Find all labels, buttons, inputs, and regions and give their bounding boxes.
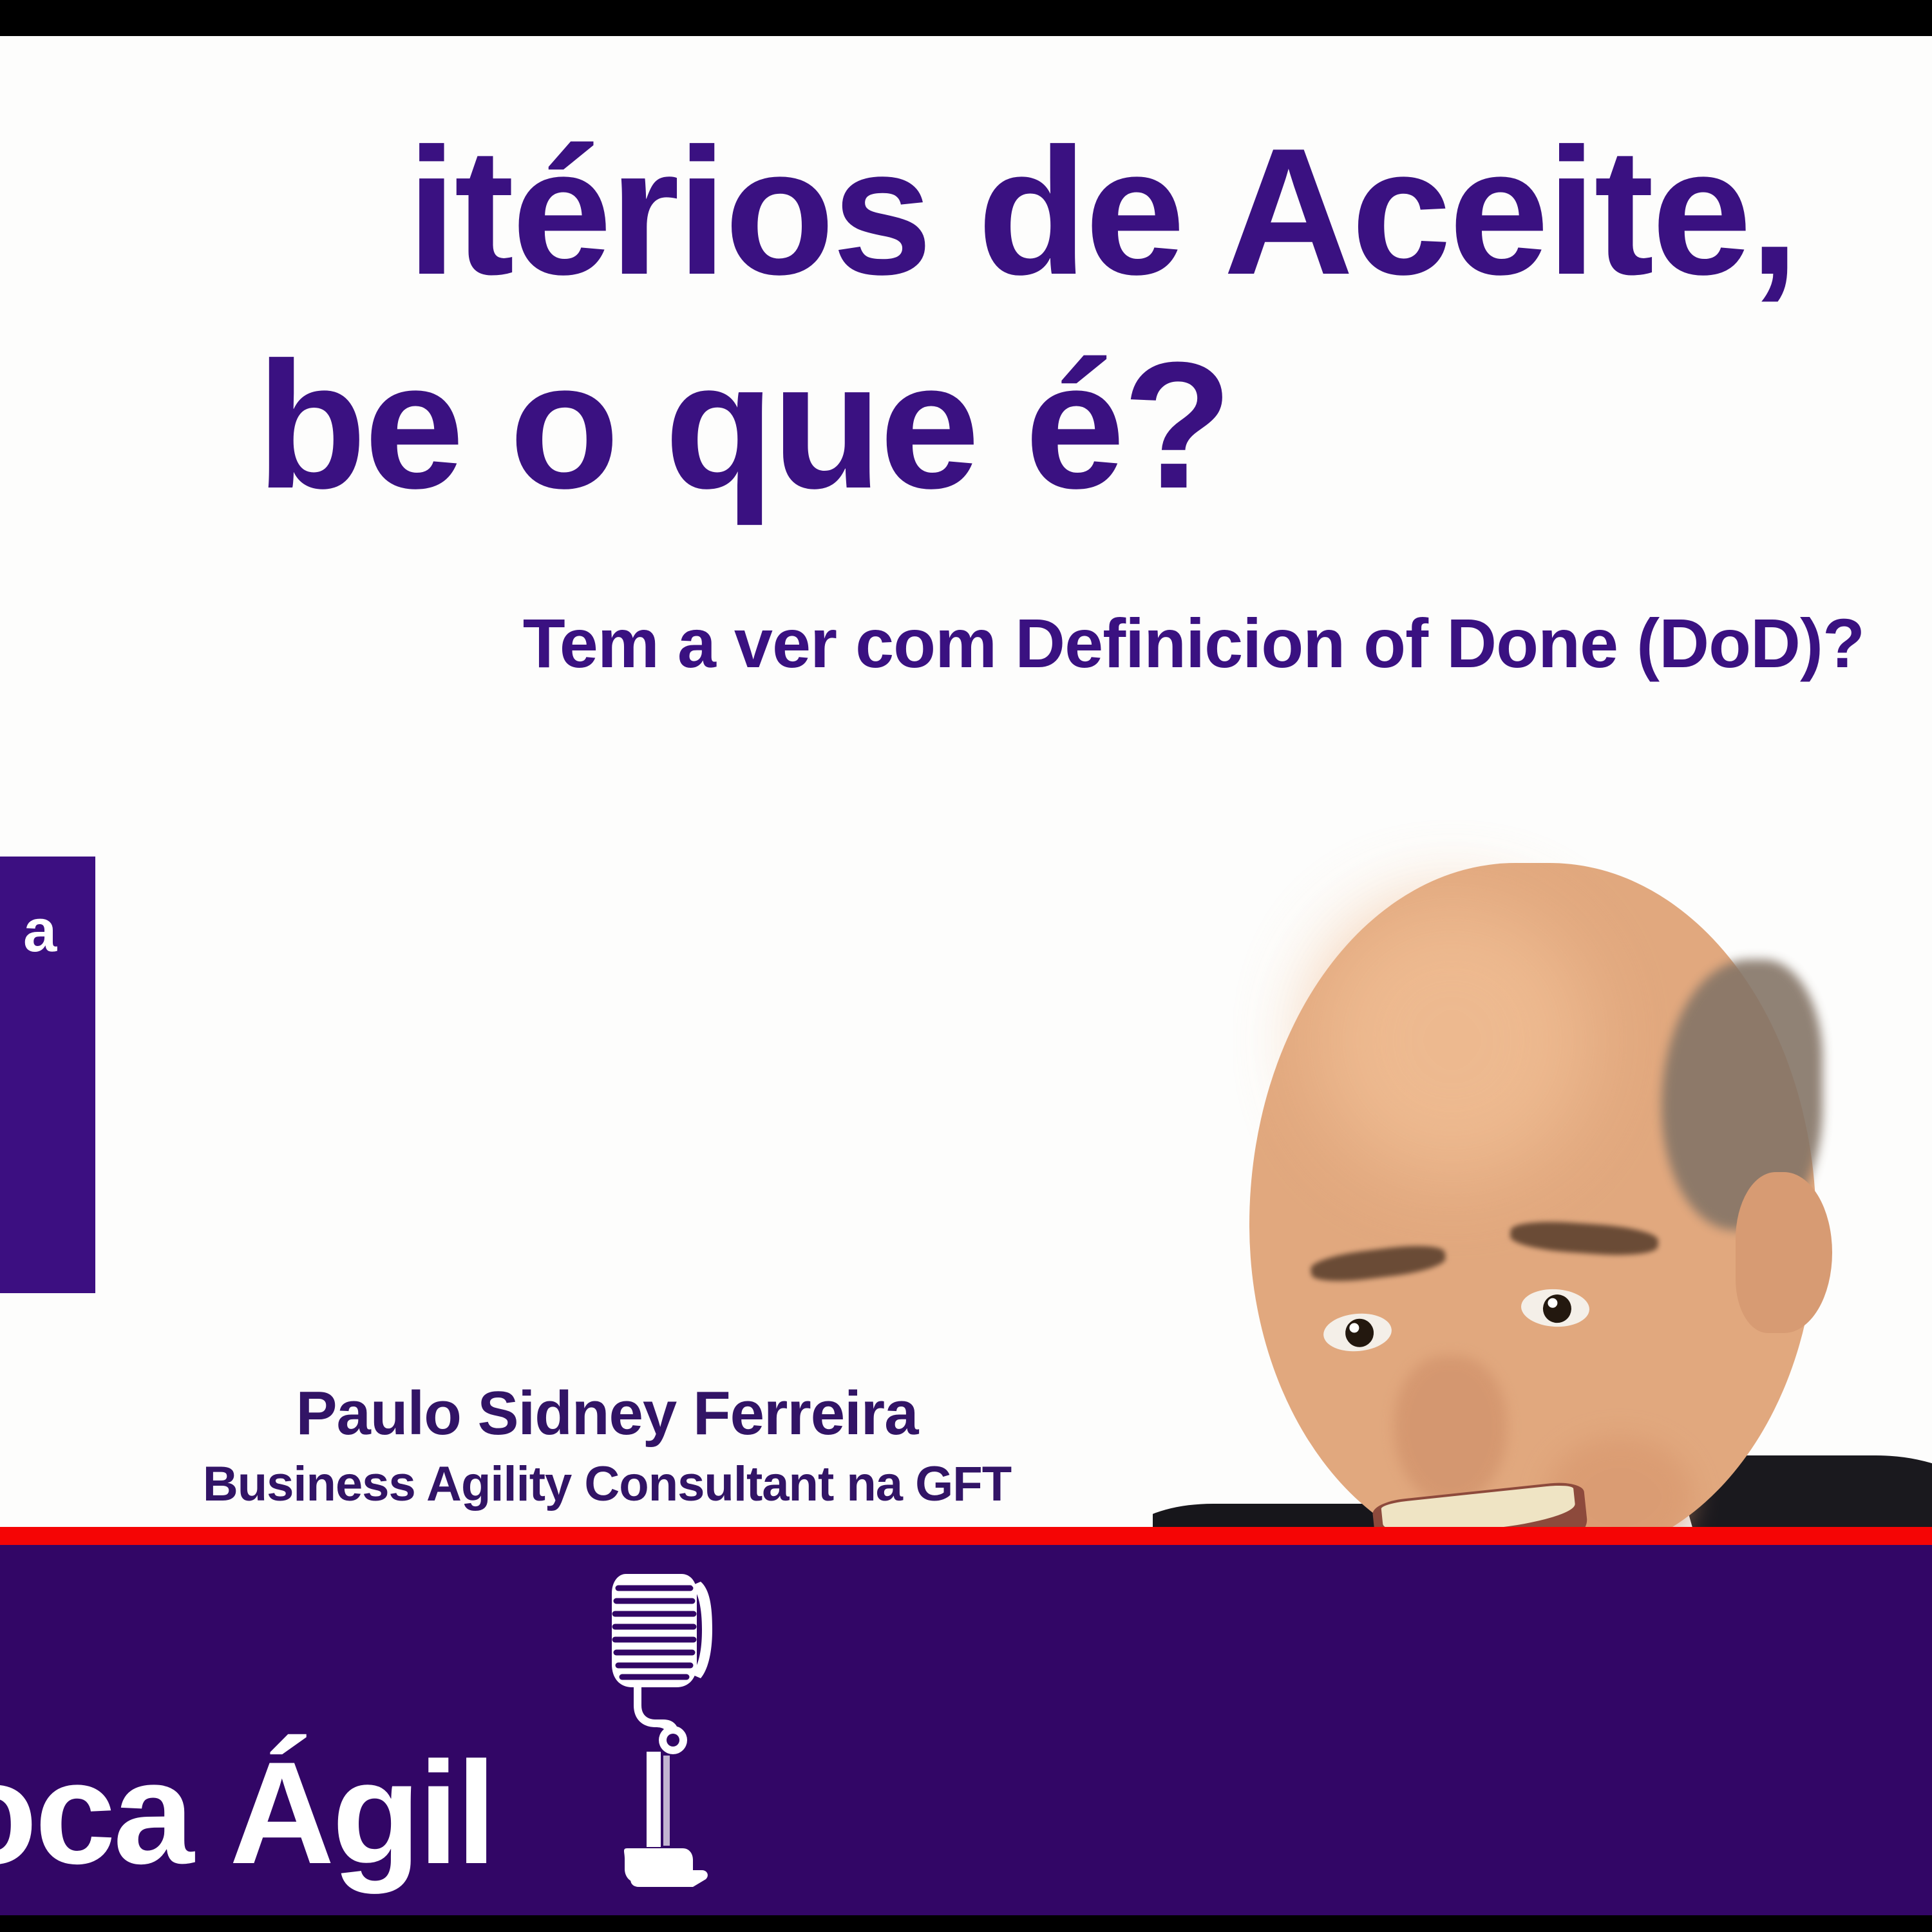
page-title-line-1: itérios de Aceite, bbox=[0, 97, 1797, 327]
side-accent-block-letter: a bbox=[23, 900, 55, 961]
page-subtitle: Tem a ver com Definicion of Done (DoD)? bbox=[0, 605, 1864, 682]
side-accent-block: a bbox=[0, 857, 95, 1293]
page-title-line-2: be o que é? bbox=[0, 310, 1230, 541]
letterbox-bar-bottom bbox=[0, 1915, 1932, 1932]
brand-name: oca Ágil bbox=[0, 1740, 494, 1886]
portrait-pupil-right bbox=[1542, 1294, 1572, 1323]
speaker-role: Business Agility Consultant na GFT bbox=[0, 1456, 1214, 1513]
portrait-head-highlight bbox=[1314, 902, 1591, 1179]
portrait-pupil-left bbox=[1344, 1318, 1375, 1349]
accent-rule-red bbox=[0, 1527, 1932, 1545]
letterbox-bar-top bbox=[0, 0, 1932, 36]
brand-banner: oca Ágil bbox=[0, 1545, 1932, 1915]
title-card: itérios de Aceite, be o que é? Tem a ver… bbox=[0, 0, 1932, 1932]
page-title: itérios de Aceite, be o que é? bbox=[0, 97, 1797, 542]
portrait-nose bbox=[1394, 1356, 1507, 1504]
portrait-ear bbox=[1736, 1172, 1832, 1333]
speaker-credit: Paulo Sidney Ferreira Business Agility C… bbox=[0, 1378, 1214, 1513]
speaker-name: Paulo Sidney Ferreira bbox=[0, 1378, 1214, 1448]
vintage-microphone-icon bbox=[580, 1567, 741, 1915]
